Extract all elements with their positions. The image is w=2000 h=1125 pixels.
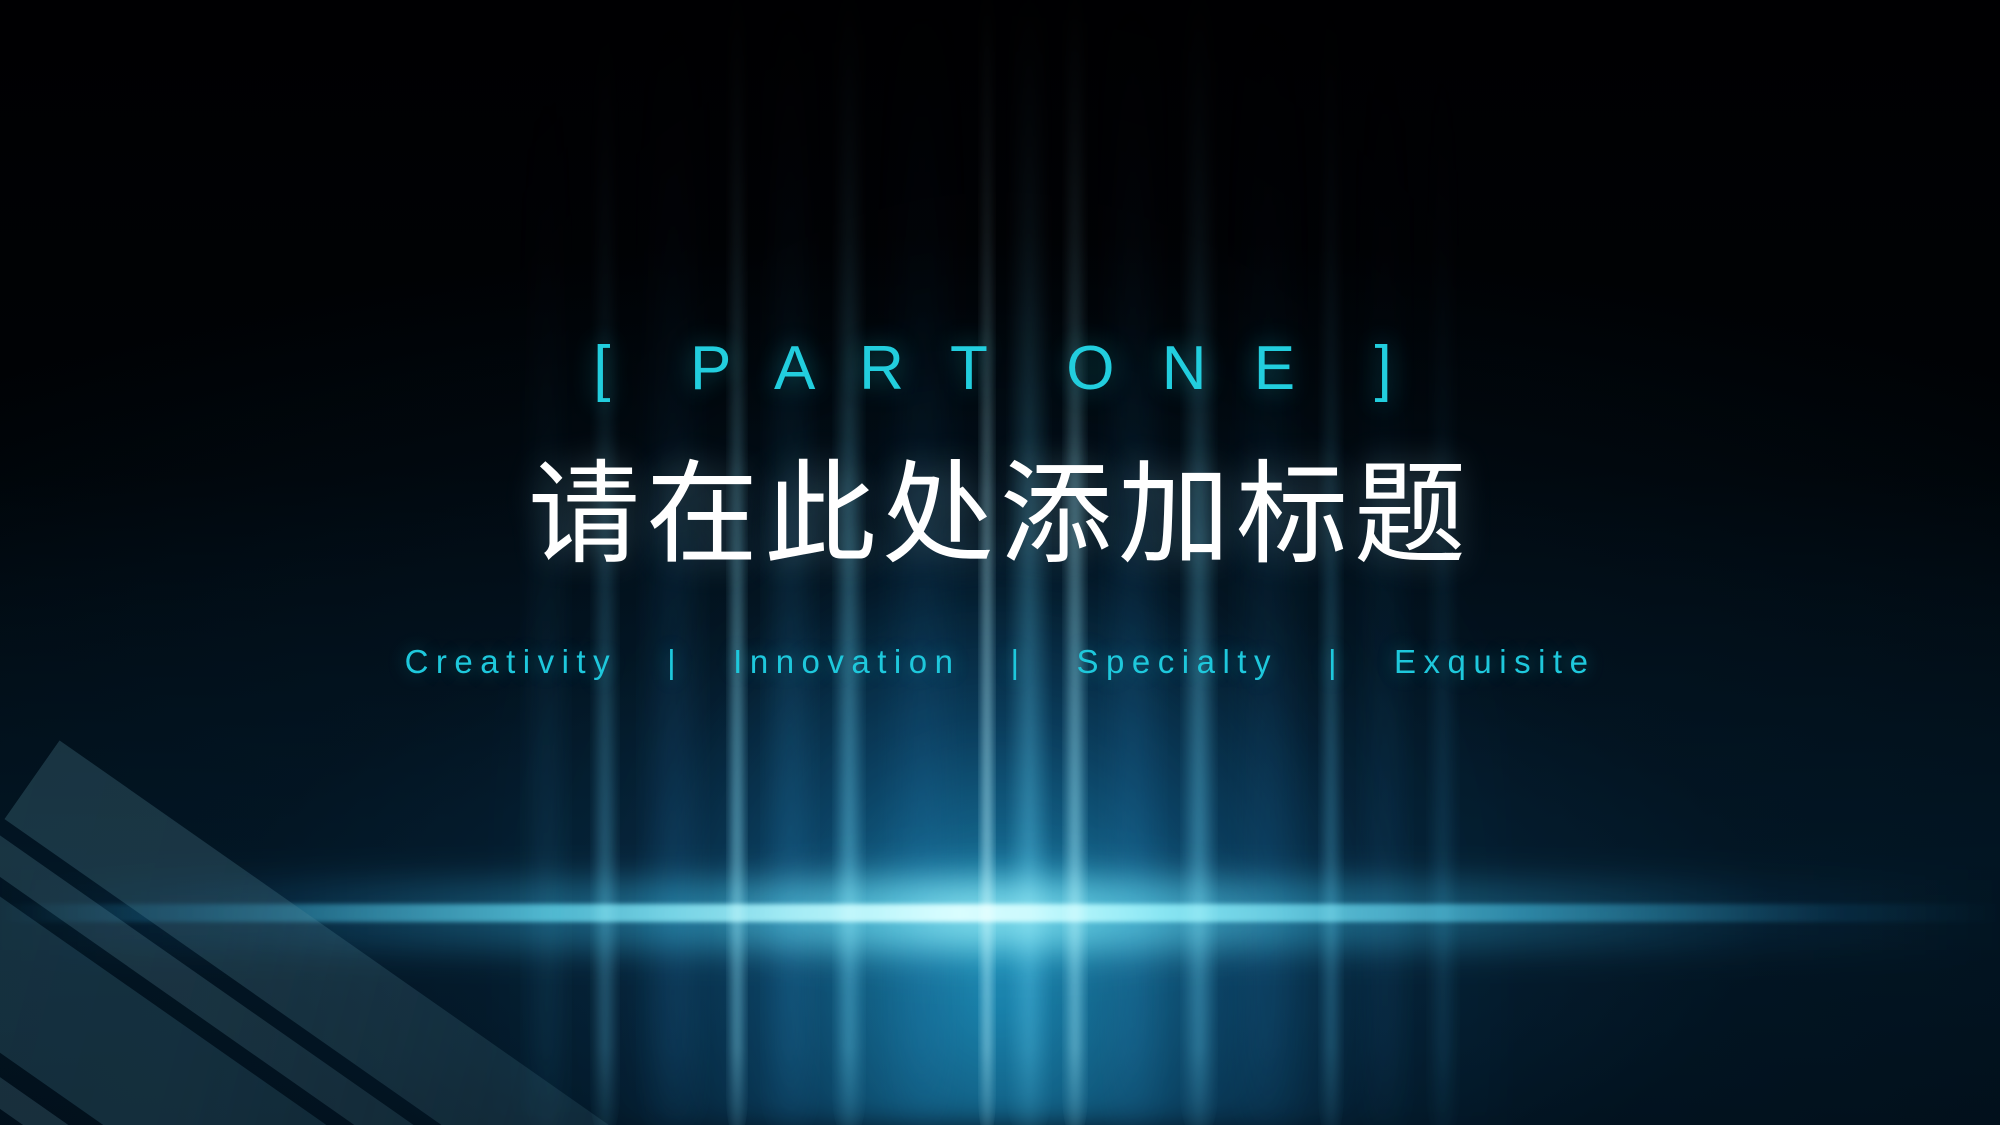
page-title: 请在此处添加标题 (0, 452, 2000, 577)
floor-beam (0, 904, 2000, 922)
slide-canvas: [ P A R T O N E ] 请在此处添加标题 Creativity | … (0, 0, 2000, 1125)
section-eyebrow-label: [ P A R T O N E ] (0, 338, 2000, 400)
slide-subtitle: Creativity | Innovation | Specialty | Ex… (0, 645, 2000, 678)
